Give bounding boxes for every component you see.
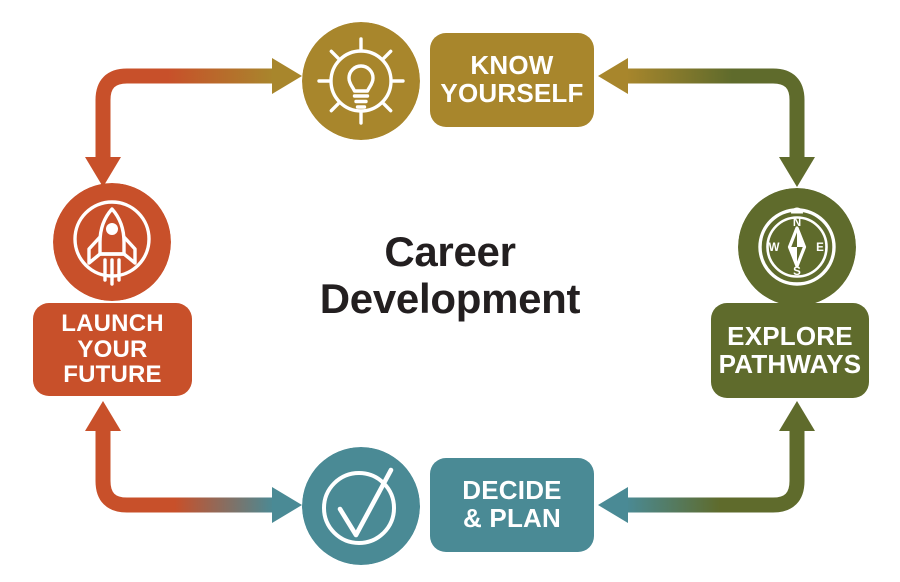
check-circle-icon bbox=[302, 447, 420, 565]
connector-top-left bbox=[85, 58, 302, 187]
stage-label-explore-pathways[interactable]: EXPLORE PATHWAYS bbox=[711, 303, 869, 398]
compass-east-label: E bbox=[816, 242, 824, 254]
diagram-center-title: Career Development bbox=[250, 228, 650, 322]
connector-bottom-right bbox=[598, 401, 815, 523]
rocket-icon bbox=[53, 183, 171, 301]
compass-south-label: S bbox=[793, 266, 801, 278]
decide-plan-line2: & PLAN bbox=[462, 505, 561, 533]
know-yourself-line1: KNOW bbox=[440, 52, 583, 80]
stage-label-launch-your-future[interactable]: LAUNCH YOUR FUTURE bbox=[33, 303, 192, 396]
compass-north-label: N bbox=[793, 217, 801, 229]
know-yourself-line2: YOURSELF bbox=[440, 80, 583, 108]
center-title-line1: Career bbox=[250, 228, 650, 275]
career-development-diagram: KNOW YOURSELF N S W E EXPLORE PATHWAYS bbox=[0, 0, 900, 582]
explore-pathways-line1: EXPLORE bbox=[719, 323, 862, 351]
launch-future-line2: YOUR bbox=[61, 337, 164, 362]
stage-label-know-yourself[interactable]: KNOW YOURSELF bbox=[430, 33, 594, 127]
explore-pathways-line2: PATHWAYS bbox=[719, 351, 862, 379]
launch-future-line1: LAUNCH bbox=[61, 311, 164, 336]
stage-label-decide-plan[interactable]: DECIDE & PLAN bbox=[430, 458, 594, 552]
launch-future-line3: FUTURE bbox=[61, 362, 164, 387]
center-title-line2: Development bbox=[250, 275, 650, 322]
lightbulb-icon bbox=[302, 22, 420, 140]
connector-bottom-left bbox=[85, 401, 302, 523]
compass-west-label: W bbox=[769, 242, 780, 254]
connector-top-right bbox=[598, 58, 815, 187]
decide-plan-line1: DECIDE bbox=[462, 477, 561, 505]
compass-icon: N S W E bbox=[738, 188, 856, 306]
